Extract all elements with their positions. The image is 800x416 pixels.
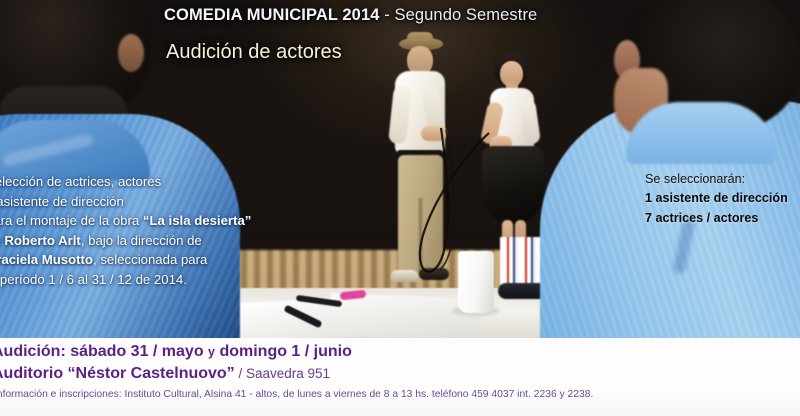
left-line-1: Selección de actrices, actores — [0, 172, 276, 192]
left-line-5-plain: , seleccionada para — [93, 252, 207, 267]
actor-man-trouser-seam — [419, 198, 422, 276]
actor-man-shoe-right — [419, 268, 449, 280]
left-line-4-bold: Roberto Arlt — [4, 233, 80, 248]
audition-dates-a: Audición: sábado 31 / mayo — [0, 343, 208, 360]
left-line-5-bold: Graciela Musotto — [0, 252, 93, 267]
audition-dates-b: domingo 1 / junio — [215, 343, 352, 360]
poster-image: COMEDIA MUNICIPAL 2014 - Segundo Semestr… — [0, 0, 800, 416]
foreground-person-right — [592, 0, 800, 338]
actor-man-shoe-left — [391, 270, 419, 282]
left-line-4-plain-b: , bajo la dirección de — [81, 233, 202, 248]
left-line-2: y asistente de dirección — [0, 192, 276, 212]
actor-man-hands — [421, 126, 447, 141]
photograph-background: COMEDIA MUNICIPAL 2014 - Segundo Semestr… — [0, 0, 800, 338]
selection-item-actors: 7 actrices / actores — [645, 209, 800, 228]
poster-subtitle: Audición de actores — [166, 41, 342, 64]
bottom-info-bar: Audición: sábado 31 / mayo y domingo 1 /… — [0, 338, 800, 416]
right-selection-block: Se seleccionarán: 1 asistente de direcci… — [645, 170, 800, 228]
poster-title-rest: - Segundo Semestre — [380, 6, 538, 24]
selection-heading: Se seleccionarán: — [645, 170, 800, 189]
left-line-4: de Roberto Arlt, bajo la dirección de — [0, 231, 276, 251]
poster-title: COMEDIA MUNICIPAL 2014 - Segundo Semestr… — [164, 6, 537, 25]
audition-dates-line: Audición: sábado 31 / mayo y domingo 1 /… — [0, 343, 352, 361]
actor-woman-skirt — [482, 146, 544, 224]
venue-line: Auditorio “Néstor Castelnuovo” / Saavedr… — [0, 365, 330, 383]
contact-info-line: Información e inscripciones: Instituto C… — [0, 389, 593, 400]
left-description-block: Selección de actrices, actores y asisten… — [0, 172, 276, 290]
white-cup — [458, 251, 494, 313]
actor-man-silhouette — [385, 38, 455, 300]
left-line-5: Graciela Musotto, seleccionada para — [0, 250, 276, 270]
poster-title-bold: COMEDIA MUNICIPAL 2014 — [164, 6, 380, 24]
left-line-3-bold: “La isla desierta” — [143, 213, 251, 228]
person-right-collar — [626, 102, 776, 164]
venue-address: / Saavedra 951 — [235, 366, 330, 381]
left-line-6: el período 1 / 6 al 31 / 12 de 2014. — [0, 270, 276, 290]
venue-name: Auditorio “Néstor Castelnuovo” — [0, 365, 235, 382]
left-line-3: para el montaje de la obra “La isla desi… — [0, 211, 276, 231]
person-left-ear — [118, 34, 144, 72]
left-line-3-plain: para el montaje de la obra — [0, 213, 143, 228]
selection-item-assistant: 1 asistente de dirección — [645, 189, 800, 208]
audition-dates-conjunction: y — [208, 345, 215, 359]
